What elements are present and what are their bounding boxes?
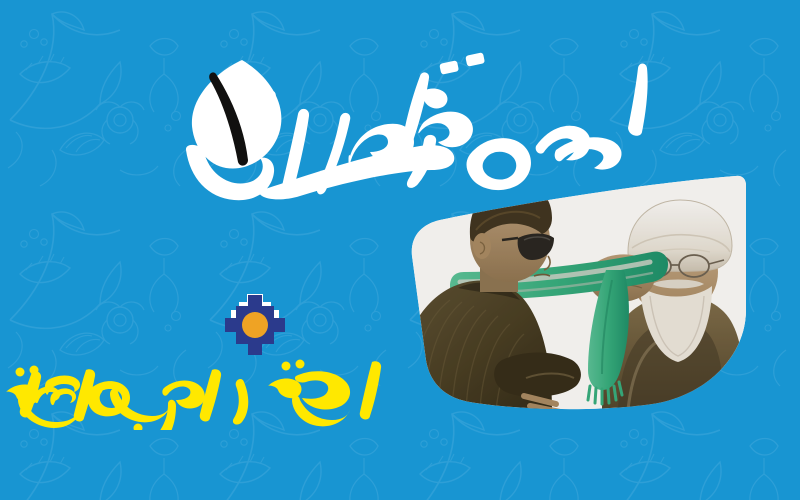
poster-canvas: ۱ xyxy=(0,0,800,500)
photo-card xyxy=(406,160,800,420)
ornament-medallion xyxy=(222,292,288,358)
photo-content xyxy=(396,160,800,420)
ornament-center xyxy=(242,312,268,338)
issue-number-badge: ۱ xyxy=(186,56,296,176)
